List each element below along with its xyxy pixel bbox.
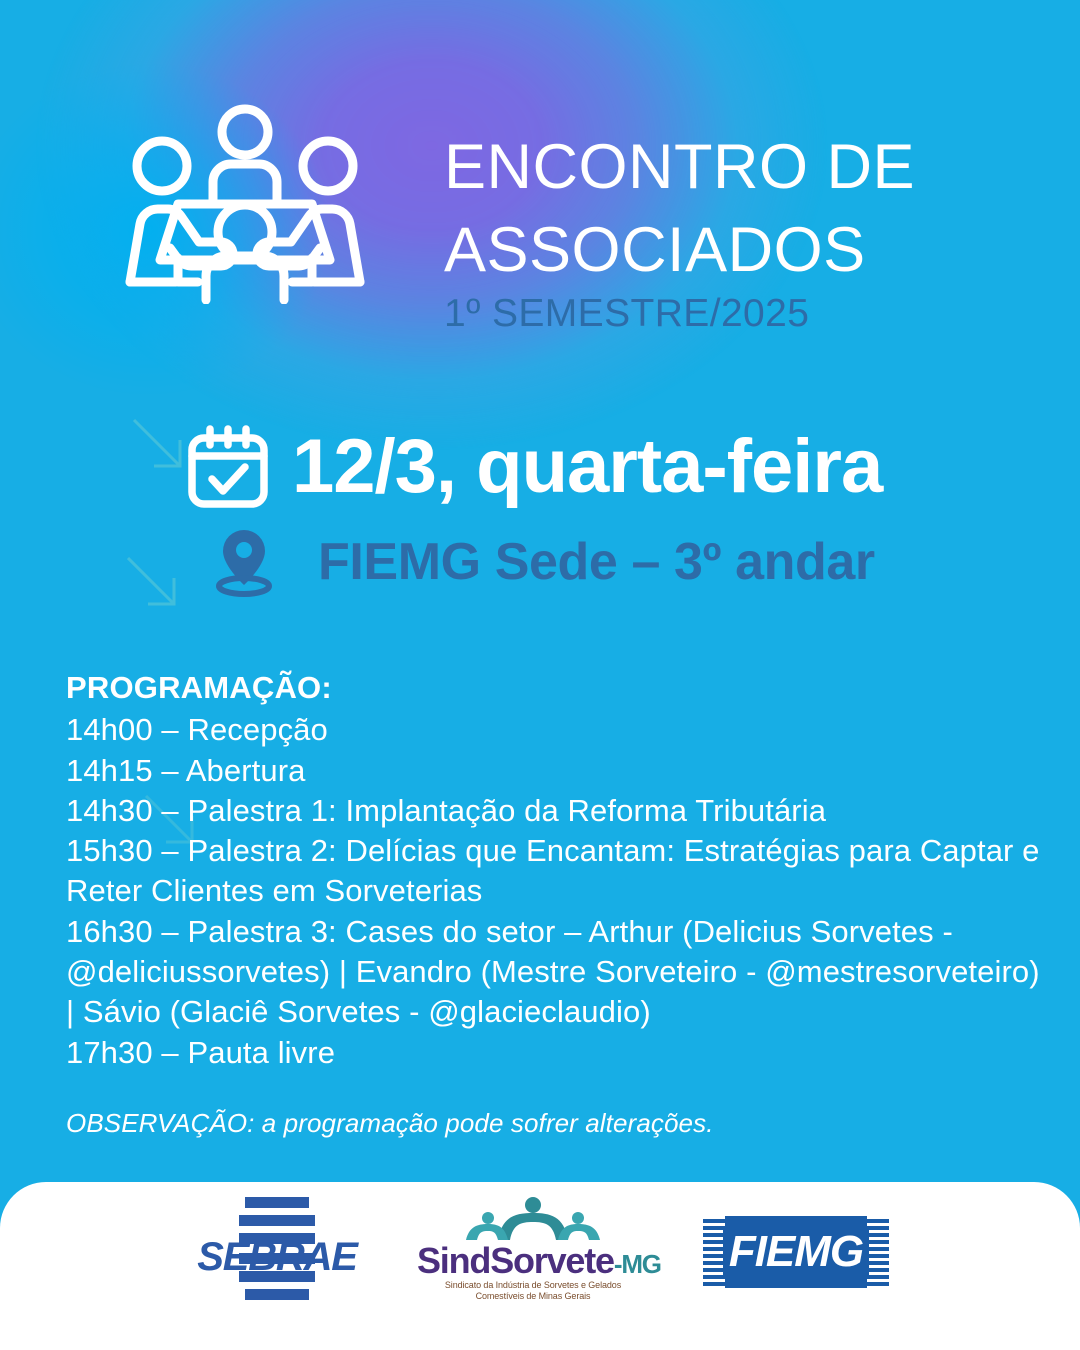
sindsorvete-subtitle-line-2: Comestíveis de Minas Gerais: [417, 1291, 649, 1302]
footer-panel: SEBRAE: [0, 1182, 1080, 1350]
programme-line: 14h00 – Recepção: [66, 710, 1046, 750]
title-block: ENCONTRO DE ASSOCIADOS 1º SEMESTRE/2025: [444, 126, 1044, 336]
sindsorvete-figures-icon: [417, 1196, 649, 1242]
meeting-table-people-icon: [106, 104, 384, 304]
sebrae-logo: SEBRAE: [191, 1197, 363, 1307]
programme-section: PROGRAMAÇÃO: 14h00 – Recepção 14h15 – Ab…: [66, 668, 1046, 1141]
sebrae-bars-bottom: [239, 1253, 315, 1307]
page-title-line-1: ENCONTRO DE: [444, 126, 1044, 209]
sindsorvete-subtitle: Sindicato da Indústria de Sorvetes e Gel…: [417, 1280, 649, 1303]
sindsorvete-mg-logo: SindSorvete-MG Sindicato da Indústria de…: [417, 1196, 649, 1308]
programme-line: Reter Clientes em Sorveterias: [66, 871, 1046, 911]
programme-heading: PROGRAMAÇÃO:: [66, 668, 1046, 708]
event-poster: ENCONTRO DE ASSOCIADOS 1º SEMESTRE/2025 …: [0, 0, 1080, 1350]
poster-header: ENCONTRO DE ASSOCIADOS 1º SEMESTRE/2025: [0, 0, 1080, 370]
programme-note: OBSERVAÇÃO: a programação pode sofrer al…: [66, 1107, 1046, 1141]
programme-line: 14h30 – Palestra 1: Implantação da Refor…: [66, 791, 1046, 831]
programme-line: 17h30 – Pauta livre: [66, 1033, 1046, 1073]
sindsorvete-word-mg: MG: [621, 1249, 660, 1279]
event-date-row: 12/3, quarta-feira: [0, 414, 1080, 519]
fiemg-stripes-right: [867, 1216, 889, 1288]
programme-line: 16h30 – Palestra 3: Cases do setor – Art…: [66, 912, 1046, 952]
programme-line: 14h15 – Abertura: [66, 751, 1046, 791]
fiemg-wordmark: FIEMG: [723, 1227, 869, 1277]
programme-line: 15h30 – Palestra 2: Delícias que Encanta…: [66, 831, 1046, 871]
fiemg-logo: FIEMG: [703, 1216, 889, 1288]
programme-line: @deliciussorvetes) | Evandro (Mestre Sor…: [66, 952, 1046, 992]
location-pin-icon: [188, 526, 300, 598]
page-title-line-2: ASSOCIADOS: [444, 209, 1044, 292]
programme-line: | Sávio (Glaciê Sorvetes - @glacieclaudi…: [66, 992, 1046, 1032]
page-subtitle: 1º SEMESTRE/2025: [444, 293, 1044, 336]
sindsorvete-word-main: SindSorvete: [417, 1240, 614, 1281]
fiemg-stripes-left: [703, 1216, 725, 1288]
event-info: 12/3, quarta-feira FIEMG Sede – 3º andar: [0, 414, 1080, 605]
event-date: 12/3, quarta-feira: [292, 429, 882, 505]
event-place: FIEMG Sede – 3º andar: [318, 536, 875, 588]
sindsorvete-subtitle-line-1: Sindicato da Indústria de Sorvetes e Gel…: [417, 1280, 649, 1291]
sindsorvete-wordmark: SindSorvete-MG: [417, 1240, 649, 1282]
event-place-row: FIEMG Sede – 3º andar: [0, 519, 1080, 605]
sponsor-logos: SEBRAE: [0, 1192, 1080, 1312]
calendar-check-icon: [172, 421, 284, 513]
